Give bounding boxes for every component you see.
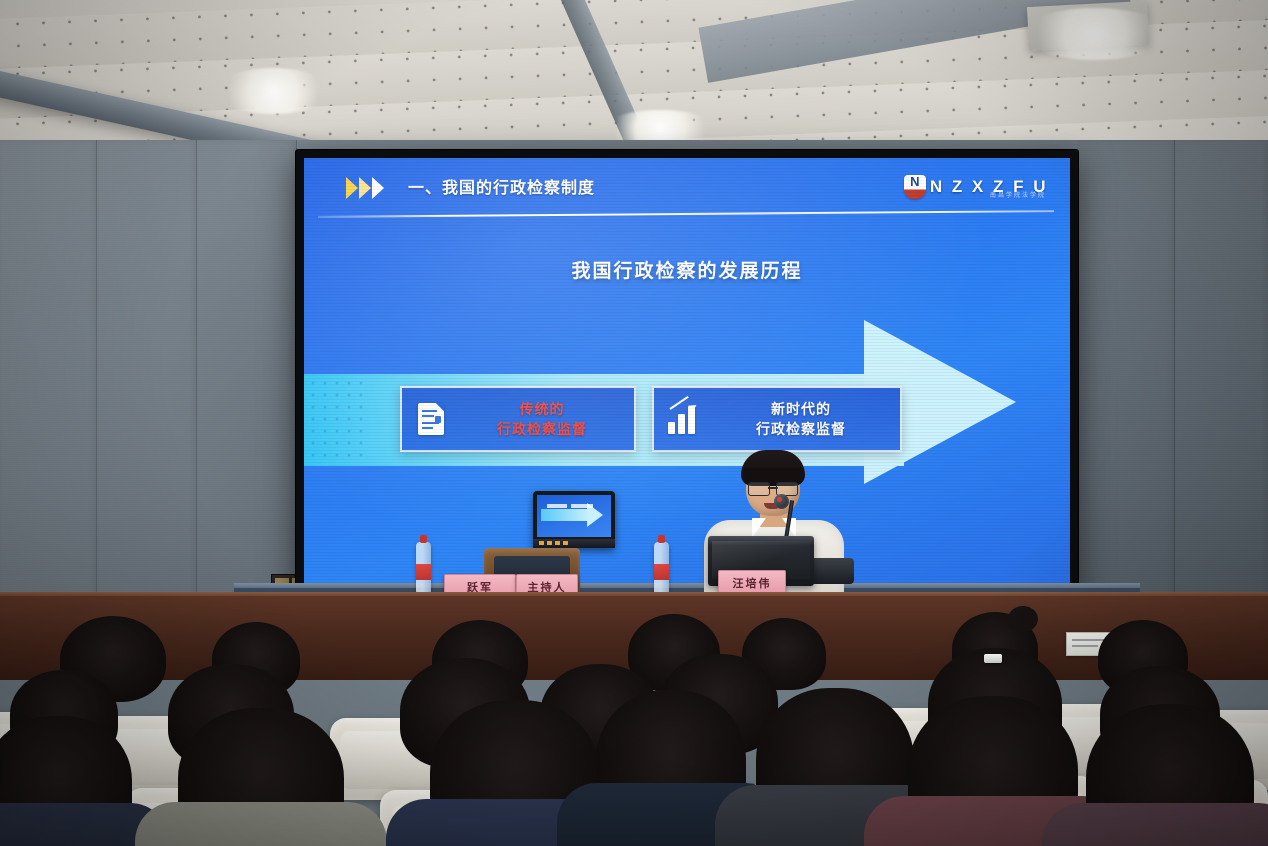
card-line-1: 新时代的 <box>712 399 890 419</box>
confidence-monitor <box>533 491 615 548</box>
ceiling-light <box>1020 8 1170 60</box>
microphone-base <box>810 558 854 584</box>
card-text-new-era: 新时代的 行政检察监督 <box>712 399 900 440</box>
monitor-card <box>571 504 593 508</box>
speaker-hair <box>741 450 805 486</box>
bar-chart-growth-icon <box>654 404 712 434</box>
glasses-icon <box>748 482 798 495</box>
document-icon <box>402 403 460 435</box>
microphone-icon <box>774 494 789 509</box>
ceiling-light <box>214 68 332 114</box>
arrow-dot-texture <box>310 380 370 460</box>
card-text-traditional: 传统的 行政检察监督 <box>460 399 634 440</box>
logo-badge-icon: N <box>904 175 926 199</box>
slide-section-title: 一、我国的行政检察制度 <box>408 174 595 198</box>
water-bottle <box>416 542 431 594</box>
water-bottle <box>654 542 669 594</box>
card-line-1: 传统的 <box>460 399 624 419</box>
audience-area <box>0 604 1268 846</box>
monitor-controls <box>533 539 615 548</box>
audience-member <box>0 716 132 846</box>
lecture-hall-photo: 一、我国的行政检察制度 N N Z X Z F U 南昌学院法学院 我国行政检察… <box>0 0 1268 846</box>
double-chevron-icon <box>346 177 392 199</box>
slide-header: 一、我国的行政检察制度 N N Z X Z F U 南昌学院法学院 <box>304 158 1070 216</box>
audience-member <box>178 708 344 846</box>
logo-subtext: 南昌学院法学院 <box>990 190 1046 199</box>
card-line-2: 行政检察监督 <box>712 419 890 439</box>
audience-member <box>1086 704 1254 846</box>
monitor-arrow-graphic <box>541 509 589 521</box>
slide-card-new-era: 新时代的 行政检察监督 <box>652 386 902 452</box>
card-line-2: 行政检察监督 <box>460 419 624 439</box>
slide-card-traditional: 传统的 行政检察监督 <box>400 386 636 452</box>
monitor-card <box>547 504 567 508</box>
header-divider <box>318 210 1054 218</box>
led-screen: 一、我国的行政检察制度 N N Z X Z F U 南昌学院法学院 我国行政检察… <box>296 150 1078 600</box>
ceiling <box>0 0 1268 152</box>
slide-main-title: 我国行政检察的发展历程 <box>304 256 1070 283</box>
monitor-screen <box>537 495 611 537</box>
presentation-slide: 一、我国的行政检察制度 N N Z X Z F U 南昌学院法学院 我国行政检察… <box>304 158 1070 592</box>
